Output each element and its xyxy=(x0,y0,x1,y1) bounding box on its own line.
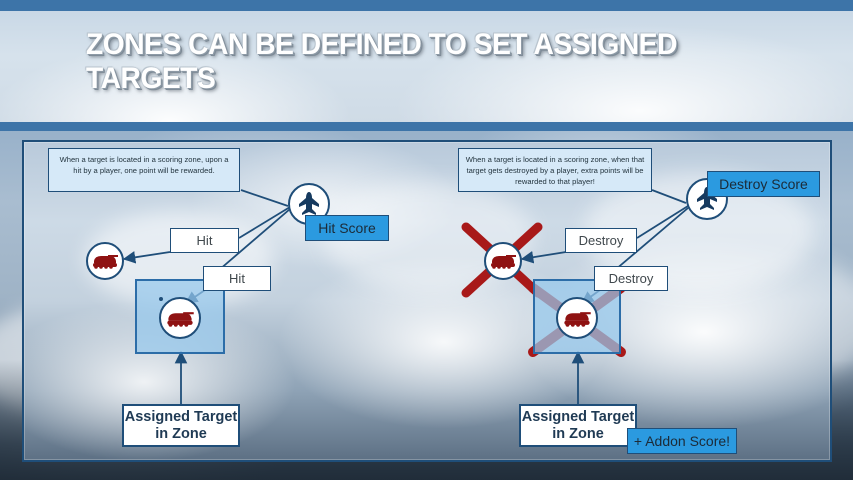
page-title: ZONES CAN BE DEFINED TO SET ASSIGNED TAR… xyxy=(86,28,744,96)
tank-icon xyxy=(165,309,195,328)
header-accent-bar-top xyxy=(0,0,853,11)
left-target-token xyxy=(86,242,124,280)
tank-icon xyxy=(91,252,119,270)
right-target-token xyxy=(484,242,522,280)
right-info-callout: When a target is located in a scoring zo… xyxy=(458,148,652,192)
left-zone-caption: Assigned Target in Zone xyxy=(122,404,240,447)
tank-icon xyxy=(562,309,592,328)
left-info-callout: When a target is located in a scoring zo… xyxy=(48,148,240,192)
addon-score-badge[interactable]: + Addon Score! xyxy=(627,428,737,454)
header-accent-bar-bottom xyxy=(0,122,853,131)
right-zone-caption: Assigned Target in Zone xyxy=(519,404,637,447)
left-zone-target-token xyxy=(159,297,201,339)
left-action-label-lower: Hit xyxy=(203,266,271,291)
right-action-label-upper: Destroy xyxy=(565,228,637,253)
right-action-label-lower: Destroy xyxy=(594,266,668,291)
left-zone-target-token-wrap xyxy=(159,297,163,301)
right-zone-target-token xyxy=(556,297,598,339)
slide: ZONES CAN BE DEFINED TO SET ASSIGNED TAR… xyxy=(0,0,853,480)
tank-icon xyxy=(489,252,517,270)
left-score-badge[interactable]: Hit Score xyxy=(305,215,389,241)
jet-icon xyxy=(294,190,324,218)
right-score-badge[interactable]: Destroy Score xyxy=(707,171,820,197)
left-action-label-upper: Hit xyxy=(170,228,239,253)
